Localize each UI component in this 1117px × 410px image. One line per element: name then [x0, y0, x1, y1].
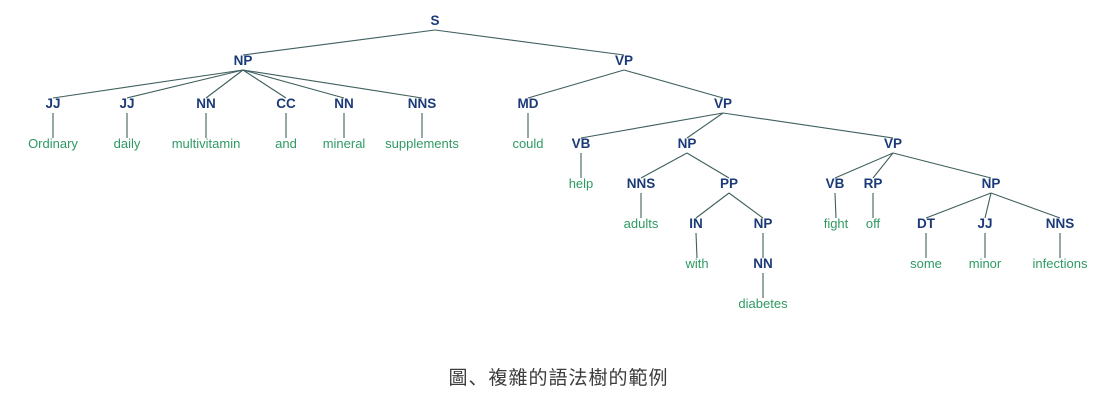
- tree-node-label: CC: [276, 96, 296, 111]
- figure-caption: 圖、複雜的語法樹的範例: [0, 366, 1117, 392]
- tree-edge: [53, 70, 243, 98]
- tree-edge: [985, 193, 991, 218]
- tree-node-label: VP: [615, 53, 633, 68]
- tree-leaf-word: diabetes: [738, 296, 788, 311]
- tree-node-label: PP: [720, 176, 738, 191]
- tree-edge: [581, 113, 723, 138]
- tree-node-label: NP: [982, 176, 1001, 191]
- tree-node-label: VB: [572, 136, 591, 151]
- tree-node-label: NNS: [408, 96, 437, 111]
- tree-edge: [243, 70, 422, 98]
- tree-leaf-word: and: [275, 136, 297, 151]
- tree-edge: [243, 30, 435, 55]
- tree-leaf-word: off: [866, 216, 881, 231]
- tree-node-label: NP: [754, 216, 773, 231]
- tree-node-label: S: [430, 13, 439, 28]
- tree-edge: [991, 193, 1060, 218]
- tree-node-label: JJ: [45, 96, 60, 111]
- tree-node-label: NN: [334, 96, 354, 111]
- tree-leaf-word: mineral: [323, 136, 366, 151]
- tree-edge: [835, 193, 836, 218]
- tree-node-label: NNS: [1046, 216, 1075, 231]
- tree-node-label: NNS: [627, 176, 656, 191]
- tree-leaf-word: some: [910, 256, 942, 271]
- tree-node-label: NN: [196, 96, 216, 111]
- tree-edge: [641, 153, 687, 178]
- syntax-tree-canvas: SNPVPJJJJNNCCNNNNSMDVPOrdinarydailymulti…: [0, 0, 1117, 350]
- tree-leaf-word: with: [684, 256, 708, 271]
- tree-leaf-word: could: [512, 136, 543, 151]
- tree-node-label: MD: [518, 96, 539, 111]
- tree-node-label: RP: [864, 176, 883, 191]
- tree-edge: [696, 233, 697, 258]
- tree-edge: [624, 70, 723, 98]
- tree-edge: [835, 153, 893, 178]
- tree-leaf-word: fight: [824, 216, 849, 231]
- tree-edge: [893, 153, 991, 178]
- tree-edge: [435, 30, 624, 55]
- tree-edge: [528, 70, 624, 98]
- tree-node-label: NP: [678, 136, 697, 151]
- tree-leaf-word: infections: [1033, 256, 1088, 271]
- tree-leaf-word: Ordinary: [28, 136, 78, 151]
- tree-edge: [687, 153, 729, 178]
- tree-leaf-word: daily: [114, 136, 141, 151]
- tree-node-label: VB: [826, 176, 845, 191]
- tree-edge: [687, 113, 723, 138]
- tree-edge: [729, 193, 763, 218]
- tree-edge: [243, 70, 344, 98]
- tree-node-label: JJ: [119, 96, 134, 111]
- tree-node-label: IN: [689, 216, 703, 231]
- tree-node-label: JJ: [977, 216, 992, 231]
- tree-node-label: VP: [714, 96, 732, 111]
- tree-leaf-word: help: [569, 176, 594, 191]
- tree-leaf-word: multivitamin: [172, 136, 241, 151]
- tree-edge-layer: [53, 30, 1060, 298]
- tree-node-label: NN: [753, 256, 773, 271]
- tree-node-label: NP: [234, 53, 253, 68]
- tree-edge: [243, 70, 286, 98]
- tree-leaf-word: supplements: [385, 136, 459, 151]
- tree-node-label: DT: [917, 216, 936, 231]
- tree-leaf-word: adults: [624, 216, 659, 231]
- tree-edge: [926, 193, 991, 218]
- syntax-tree-figure: SNPVPJJJJNNCCNNNNSMDVPOrdinarydailymulti…: [0, 0, 1117, 350]
- tree-edge: [723, 113, 893, 138]
- tree-leaf-word: minor: [969, 256, 1002, 271]
- tree-edge: [696, 193, 729, 218]
- tree-node-label: VP: [884, 136, 902, 151]
